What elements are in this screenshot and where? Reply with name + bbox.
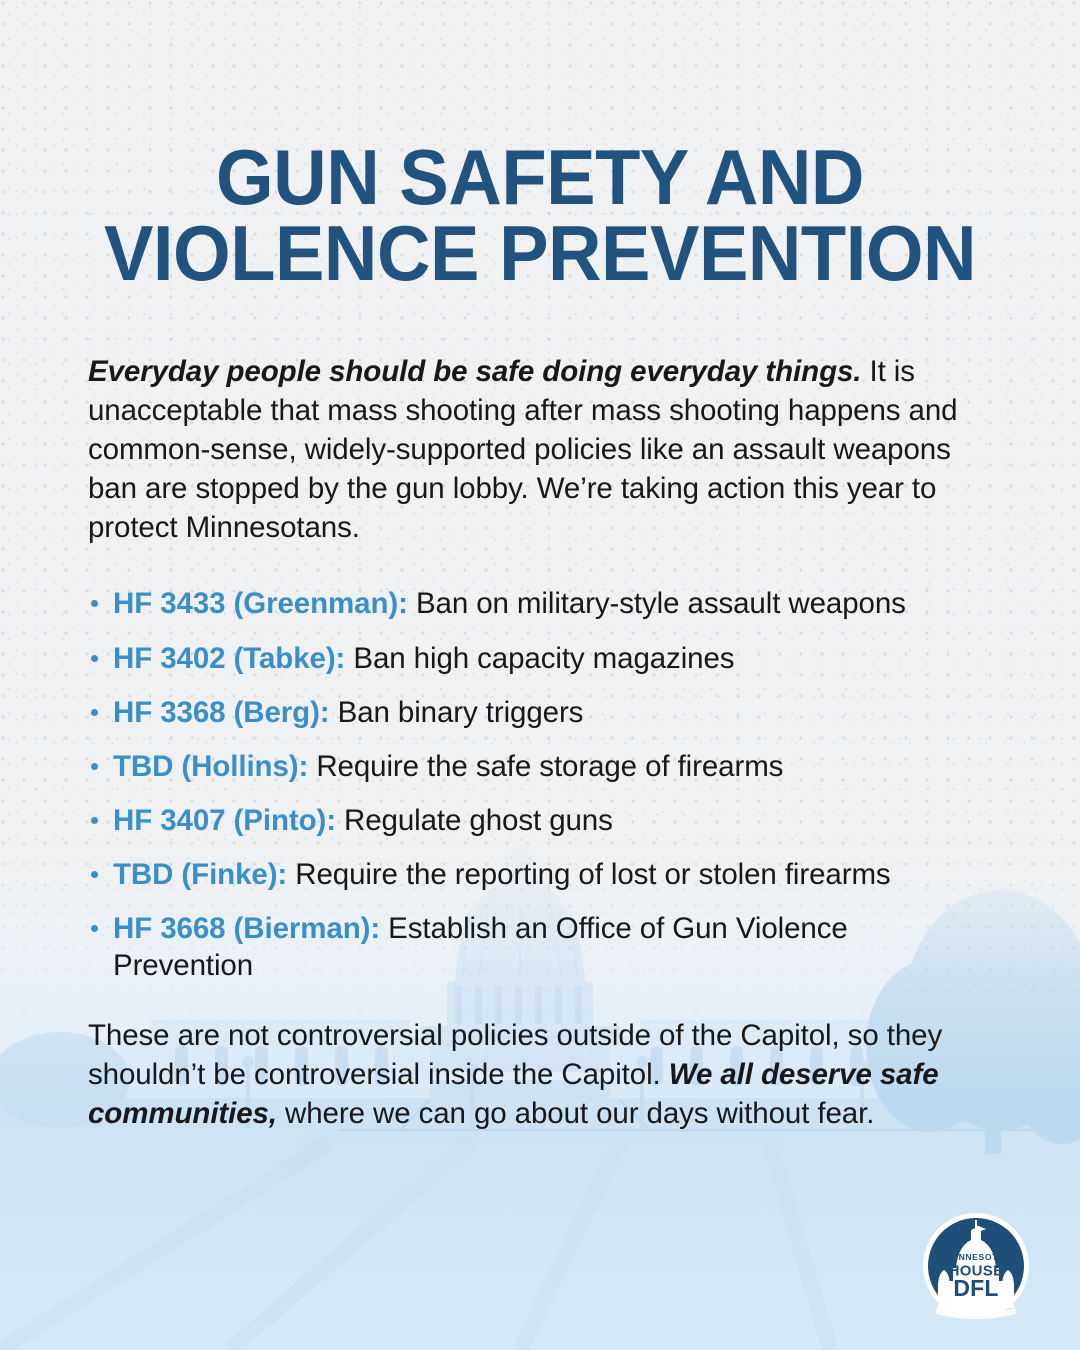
logo-line-1: MINNESOTA (948, 1252, 1004, 1262)
bill-description: Ban binary triggers (330, 696, 584, 729)
closing-paragraph: These are not controversial policies out… (88, 1016, 992, 1133)
bill-id: HF 3368 (Berg): (113, 696, 330, 729)
list-item: HF 3402 (Tabke): Ban high capacity magaz… (88, 640, 992, 677)
bill-id: HF 3433 (Greenman): (113, 587, 408, 620)
list-item: HF 3368 (Berg): Ban binary triggers (88, 694, 992, 731)
list-item: TBD (Finke): Require the reporting of lo… (88, 856, 992, 893)
intro-paragraph: Everyday people should be safe doing eve… (88, 352, 992, 547)
closing-part-2: where we can go about our days without f… (277, 1097, 874, 1130)
bill-id: HF 3407 (Pinto): (113, 804, 336, 837)
bill-id: HF 3402 (Tabke): (113, 642, 345, 675)
page-title: GUN SAFETY AND VIOLENCE PREVENTION (50, 140, 1030, 291)
title-line-2: VIOLENCE PREVENTION (75, 216, 1006, 292)
poster-canvas: GUN SAFETY AND VIOLENCE PREVENTION Every… (0, 0, 1080, 1350)
bill-id: TBD (Hollins): (113, 750, 308, 783)
bill-description: Ban high capacity magazines (345, 642, 734, 675)
bill-list: HF 3433 (Greenman): Ban on military-styl… (88, 585, 992, 984)
title-line-1: GUN SAFETY AND (75, 140, 1006, 216)
bill-id: HF 3668 (Bierman): (113, 912, 380, 945)
bill-description: Require the safe storage of firearms (308, 750, 783, 783)
intro-lead: Everyday people should be safe doing eve… (88, 355, 861, 388)
list-item: HF 3433 (Greenman): Ban on military-styl… (88, 585, 992, 622)
bill-description: Ban on military-style assault weapons (408, 587, 906, 620)
minnesota-house-dfl-logo: MINNESOTA HOUSE DFL (922, 1212, 1030, 1320)
list-item: HF 3668 (Bierman): Establish an Office o… (88, 910, 992, 984)
list-item: HF 3407 (Pinto): Regulate ghost guns (88, 802, 992, 839)
logo-line-3: DFL (953, 1275, 998, 1301)
bill-description: Regulate ghost guns (336, 804, 613, 837)
bill-id: TBD (Finke): (113, 858, 287, 891)
bill-description: Require the reporting of lost or stolen … (287, 858, 890, 891)
list-item: TBD (Hollins): Require the safe storage … (88, 748, 992, 785)
content-column: Everyday people should be safe doing eve… (88, 352, 992, 1133)
